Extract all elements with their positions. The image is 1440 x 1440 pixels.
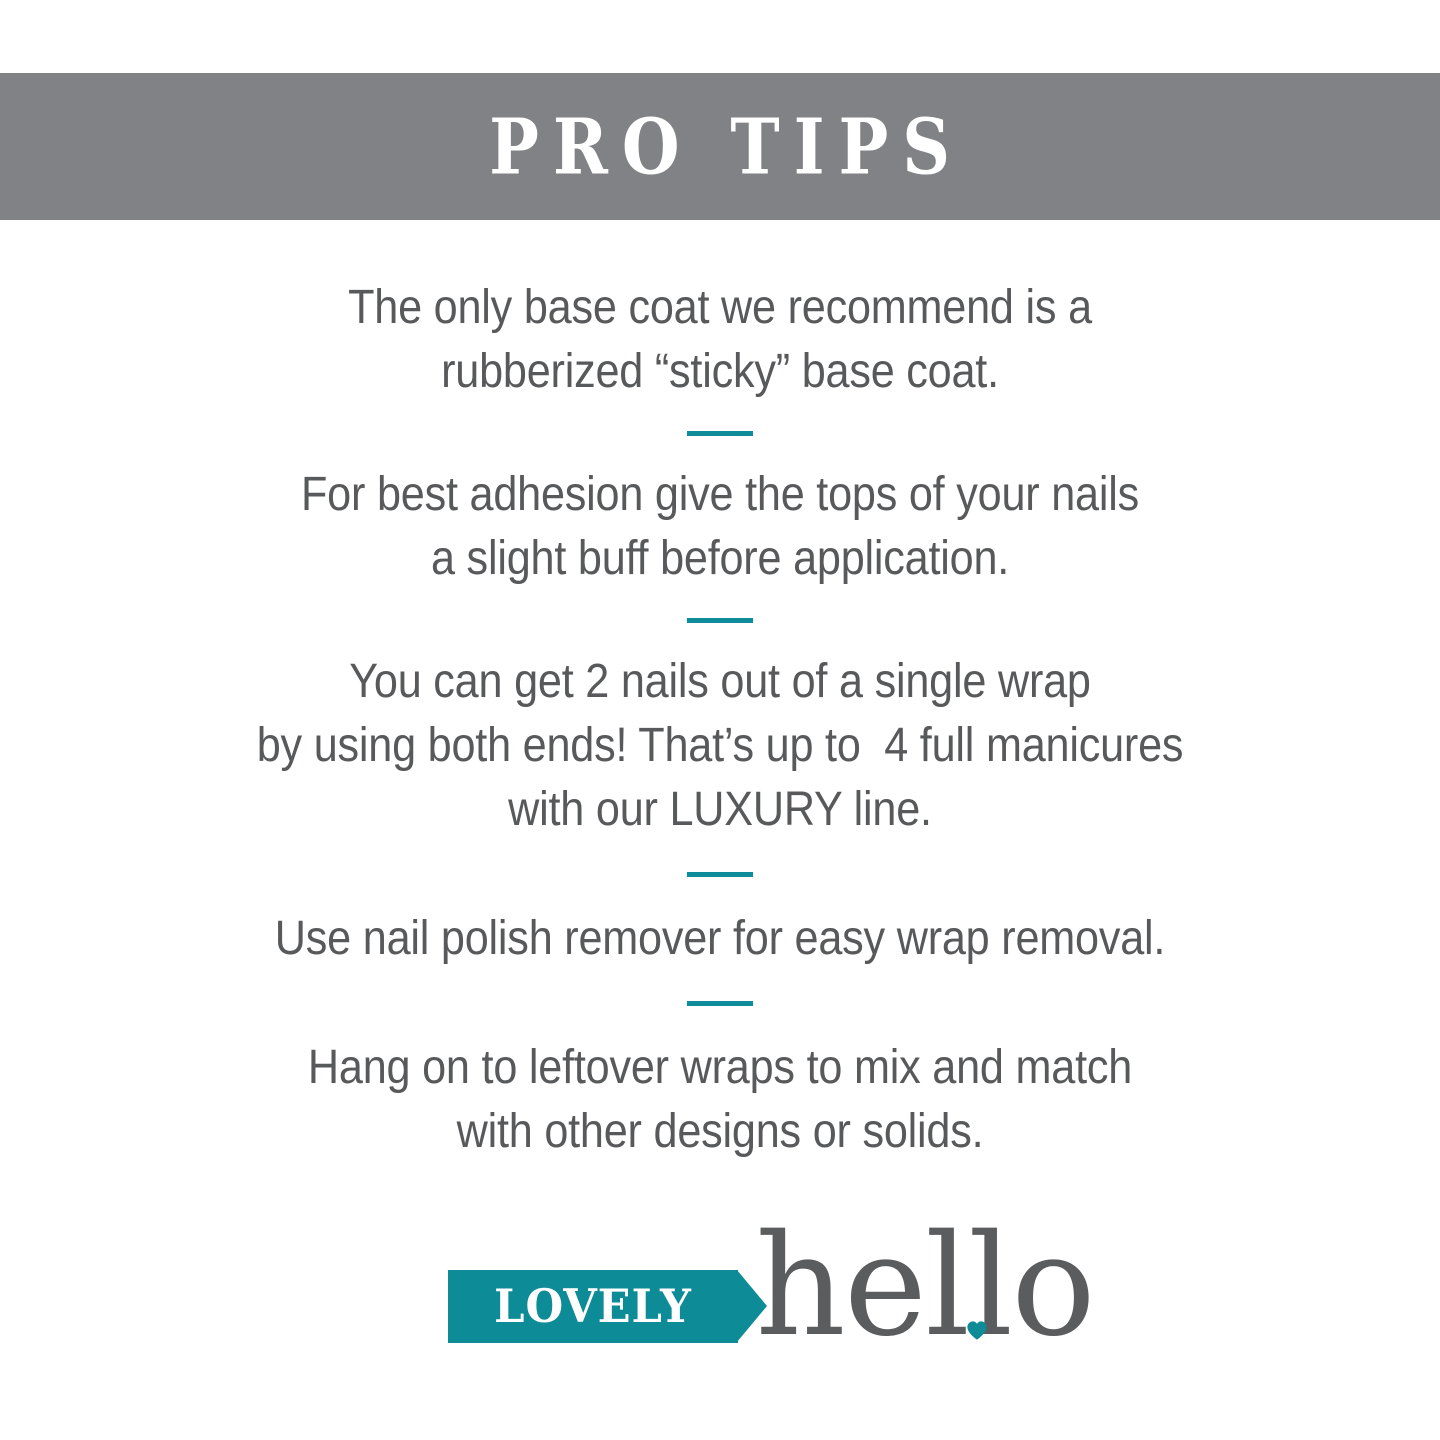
tip-line: with our LUXURY line. (72, 778, 1368, 842)
divider-line (687, 618, 753, 623)
pro-tips-card: PRO TIPS The only base coat we recommend… (0, 0, 1440, 1440)
tip-two-nails-per-wrap: You can get 2 nails out of a single wrap… (0, 650, 1440, 842)
spacer (0, 591, 1440, 618)
tip-line: Hang on to leftover wraps to mix and mat… (72, 1036, 1368, 1100)
spacer (0, 436, 1440, 463)
divider-line (687, 1001, 753, 1006)
page-title: PRO TIPS (476, 108, 965, 184)
spacer (0, 842, 1440, 872)
logo-inner: LOVELY hello (448, 1228, 993, 1378)
tips-list: The only base coat we recommend is a rub… (0, 276, 1440, 1164)
tip-line: For best adhesion give the tops of your … (72, 463, 1368, 527)
divider-line (687, 872, 753, 877)
tip-line: You can get 2 nails out of a single wrap (72, 650, 1368, 714)
spacer (0, 623, 1440, 650)
tip-line: by using both ends! That’s up to 4 full … (72, 714, 1368, 778)
spacer (0, 1006, 1440, 1036)
tip-line: a slight buff before application. (72, 527, 1368, 591)
spacer (0, 877, 1440, 907)
logo-banner-shape: LOVELY (448, 1270, 738, 1343)
heart-icon (966, 1320, 988, 1342)
brand-logo: LOVELY hello (0, 1228, 1440, 1388)
spacer (0, 404, 1440, 431)
spacer (0, 971, 1440, 1001)
tip-line: with other designs or solids. (72, 1100, 1368, 1164)
tip-adhesion-buff: For best adhesion give the tops of your … (0, 463, 1440, 591)
tip-polish-remover: Use nail polish remover for easy wrap re… (0, 907, 1440, 971)
divider-line (687, 431, 753, 436)
tip-leftover-wraps: Hang on to leftover wraps to mix and mat… (0, 1036, 1440, 1164)
header-band: PRO TIPS (0, 73, 1440, 220)
logo-lovely-text: LOVELY (493, 1283, 691, 1329)
tip-base-coat: The only base coat we recommend is a rub… (0, 276, 1440, 404)
logo-hello-wordmark: hello (756, 1228, 1094, 1346)
tip-line: Use nail polish remover for easy wrap re… (72, 907, 1368, 971)
tip-line: rubberized “sticky” base coat. (72, 340, 1368, 404)
tip-line: The only base coat we recommend is a (72, 276, 1368, 340)
